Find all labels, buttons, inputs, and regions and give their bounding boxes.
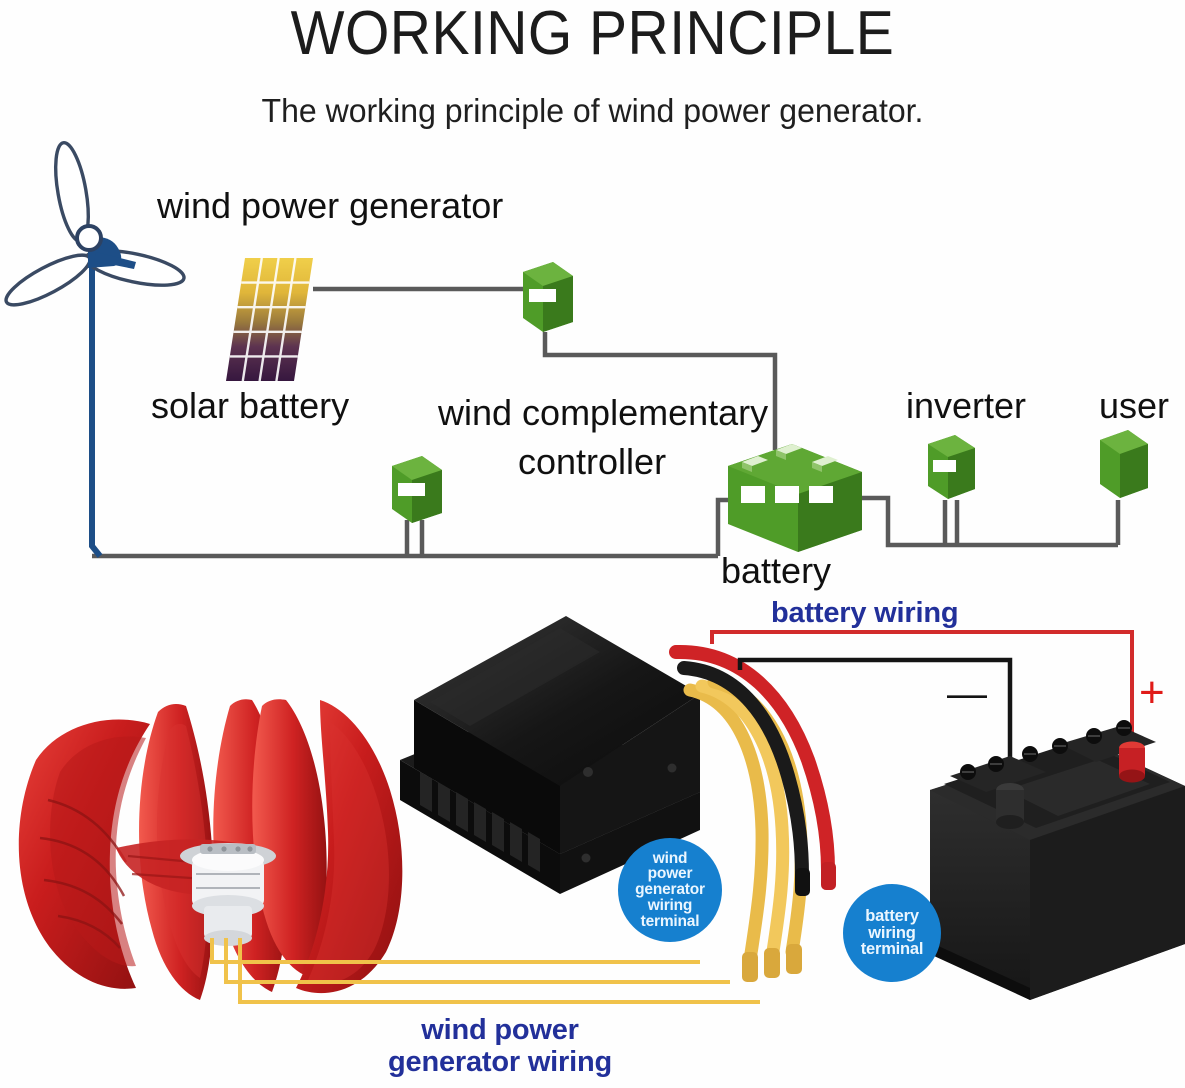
badge-bat-line2: wiring (861, 925, 924, 942)
caption-generator-wiring-line2: generator wiring (388, 1046, 612, 1078)
photo-scene (0, 0, 1185, 1088)
car-battery-photo (930, 720, 1185, 1000)
badge-gen-line2: power (635, 866, 705, 882)
working-principle-infographic: WORKING PRINCIPLE The working principle … (0, 0, 1185, 1088)
badge-gen-line4: wiring (635, 898, 705, 914)
positive-polarity-sign: + (1139, 668, 1165, 718)
badge-gen-line5: terminal (635, 914, 705, 930)
badge-bat-line1: battery (861, 908, 924, 925)
battery-wiring-terminal-badge: battery wiring terminal (843, 884, 941, 982)
caption-battery-wiring: battery wiring (771, 597, 958, 630)
battery-negative-terminal (996, 783, 1024, 829)
negative-polarity-sign: — (947, 672, 987, 717)
battery-positive-terminal (1119, 742, 1145, 783)
badge-bat-line3: terminal (861, 941, 924, 958)
badge-gen-line3: generator (635, 882, 705, 898)
wind-power-generator-wiring-terminal-badge: wind power generator wiring terminal (618, 838, 722, 942)
caption-generator-wiring: wind power generator wiring (350, 1014, 650, 1079)
badge-gen-line1: wind (635, 851, 705, 867)
caption-generator-wiring-line1: wind power (421, 1014, 579, 1046)
